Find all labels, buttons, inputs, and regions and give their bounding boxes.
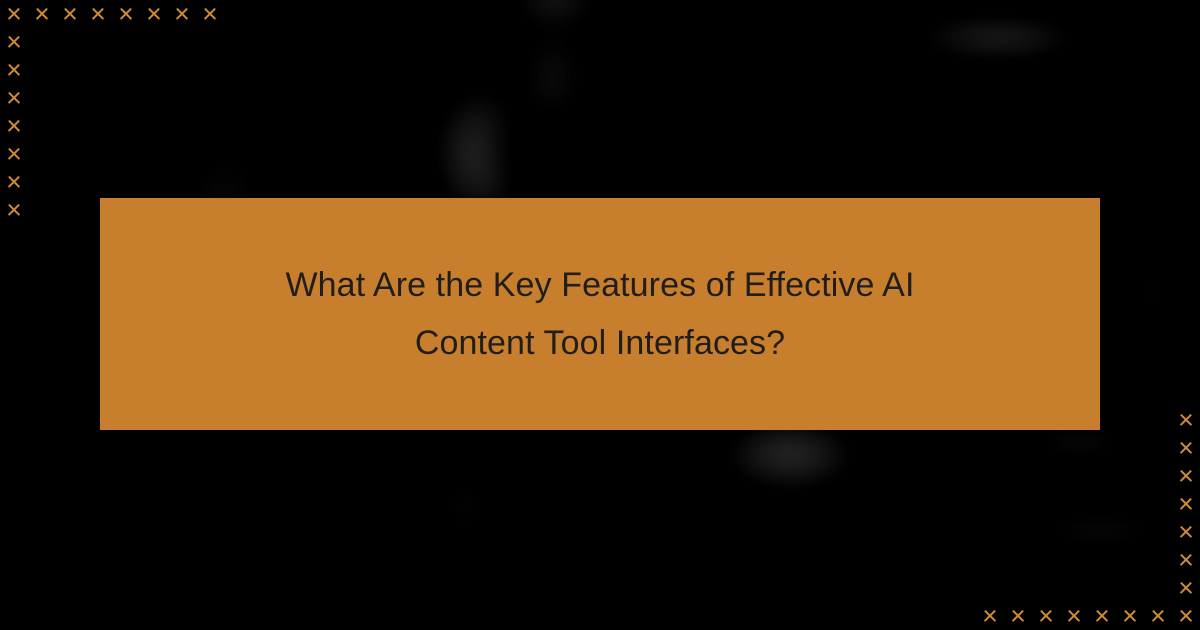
page-title: What Are the Key Features of Effective A… <box>250 256 950 372</box>
featured-image-card: What Are the Key Features of Effective A… <box>0 0 1200 630</box>
title-banner: What Are the Key Features of Effective A… <box>100 198 1100 430</box>
